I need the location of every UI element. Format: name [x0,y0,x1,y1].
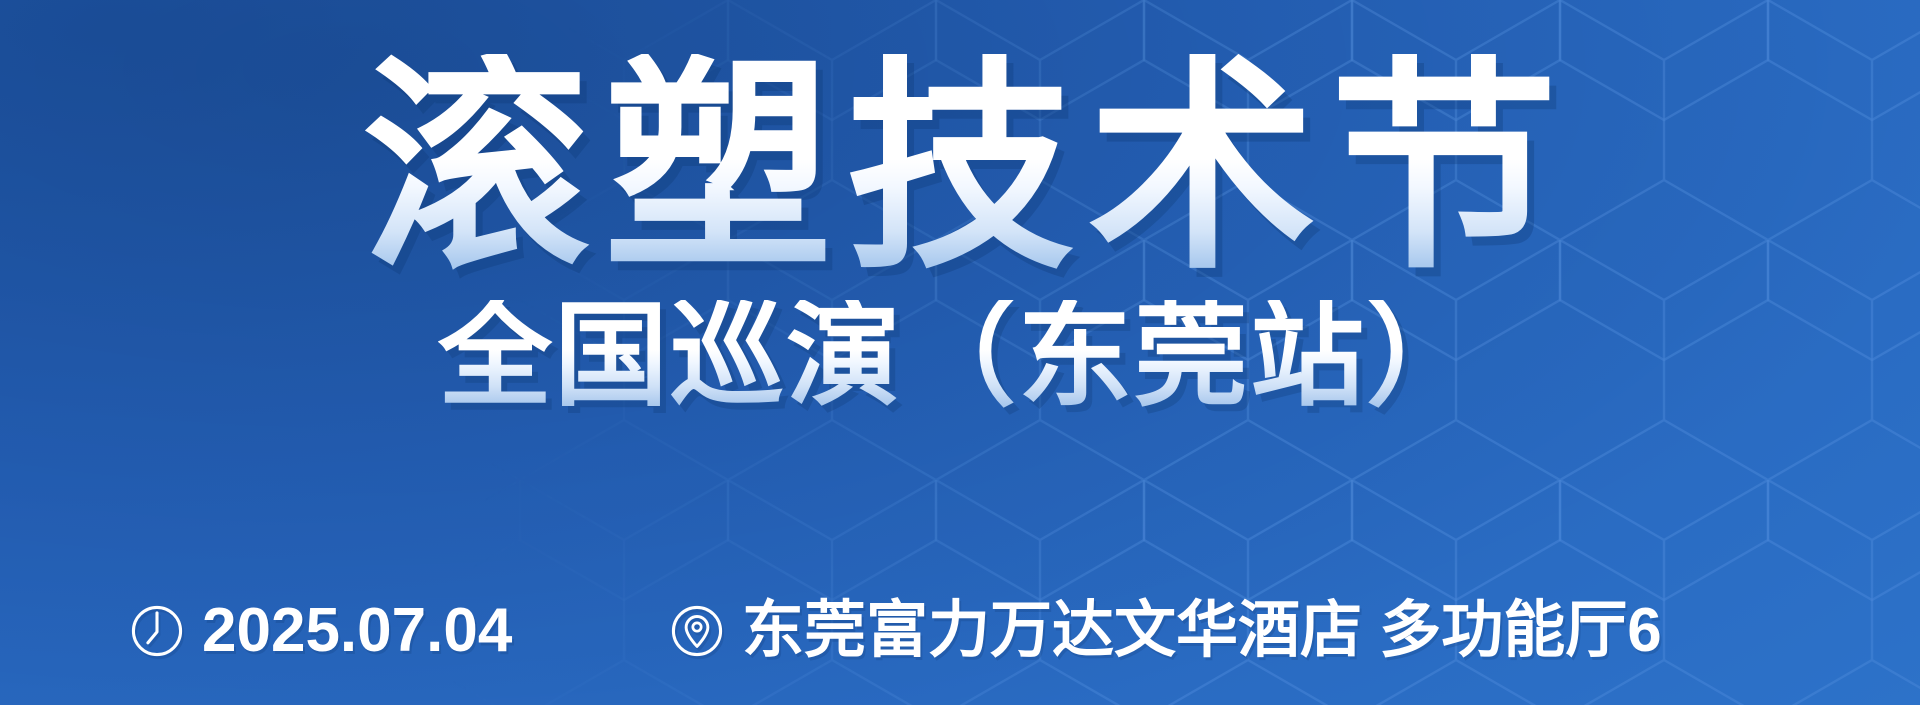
event-title-subtitle: 全国巡演（东莞站） [438,300,1482,414]
event-venue-item: 东莞富力万达文华酒店 多功能厅6 [668,600,1662,662]
event-venue-text: 东莞富力万达文华酒店 多功能厅6 [742,600,1662,662]
event-date-text: 2025.07.04 [202,600,512,662]
event-date-item: 2025.07.04 [128,600,668,662]
event-meta-row: 2025.07.04 东莞富力万达文华酒店 多功能厅6 [0,600,1920,662]
event-banner: 滚塑技术节 全国巡演（东莞站） 2025.07.04 东莞富力万达文华酒店 多功… [0,0,1920,705]
event-title-main: 滚塑技术节 [348,54,1572,282]
banner-content: 滚塑技术节 全国巡演（东莞站） 2025.07.04 东莞富力万达文华酒店 多功… [0,0,1920,705]
location-pin-icon [668,602,726,660]
clock-icon [128,602,186,660]
